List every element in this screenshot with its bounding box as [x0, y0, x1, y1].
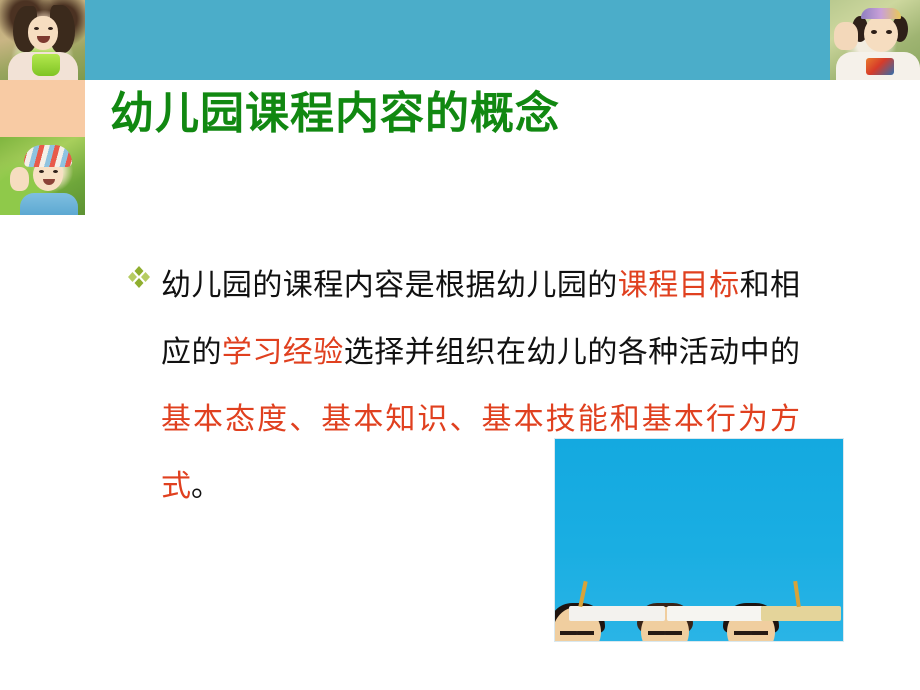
hand	[10, 167, 29, 191]
body-text-highlight-3: 基本态度、基本知识、基本技能和基本行	[161, 402, 738, 437]
slide-title: 幼儿园课程内容的概念	[110, 88, 560, 140]
girl-waving-hand-photo	[830, 0, 920, 80]
book-left	[569, 606, 665, 621]
raised-hand	[834, 22, 858, 50]
eye-left	[34, 27, 39, 30]
mouth	[569, 641, 585, 642]
left-decorative-column	[0, 0, 85, 215]
body-text-plain-6: 。	[191, 469, 221, 504]
mouth	[743, 641, 759, 642]
book-middle	[667, 606, 763, 621]
girl-with-striped-hat-photo	[0, 137, 85, 215]
face	[864, 16, 898, 52]
shirt-print	[866, 58, 894, 75]
body-text-plain-1: 幼儿园的课程内容是根据幼儿园的	[161, 268, 618, 303]
torso	[20, 193, 78, 215]
mouth	[657, 641, 673, 642]
presentation-slide: 幼儿园课程内容的概念 幼儿园的课程内容是根据幼儿园的课程目标和相应的学习经验选择…	[0, 0, 920, 690]
eyes	[560, 631, 594, 635]
eye-left	[871, 30, 877, 34]
hairband	[861, 8, 901, 19]
body-text-highlight-1: 课程目标	[618, 268, 740, 303]
body-text-highlight-2: 学习经验	[222, 335, 344, 370]
eyes	[734, 631, 768, 635]
body-text-plain-4: 选择并组织在幼儿的各种活动	[344, 335, 740, 370]
body-text-plain-2: 和	[740, 268, 770, 303]
striped-hat	[24, 145, 72, 167]
eye-left	[39, 170, 44, 173]
three-children-reading-books-photo	[554, 438, 844, 642]
girl-with-green-bucket-photo	[0, 0, 85, 80]
header-band	[85, 0, 830, 80]
body-text-plain-5: 中的	[740, 335, 800, 370]
eye-right	[53, 170, 58, 173]
green-bucket	[32, 54, 60, 76]
eye-right	[886, 30, 892, 34]
eye-right	[48, 27, 53, 30]
peach-accent-block	[0, 80, 85, 137]
diamond-cluster-bullet-icon	[128, 266, 150, 288]
eyes	[648, 631, 682, 635]
pencil-right	[793, 581, 801, 607]
book-right	[761, 606, 841, 621]
face	[28, 16, 58, 50]
